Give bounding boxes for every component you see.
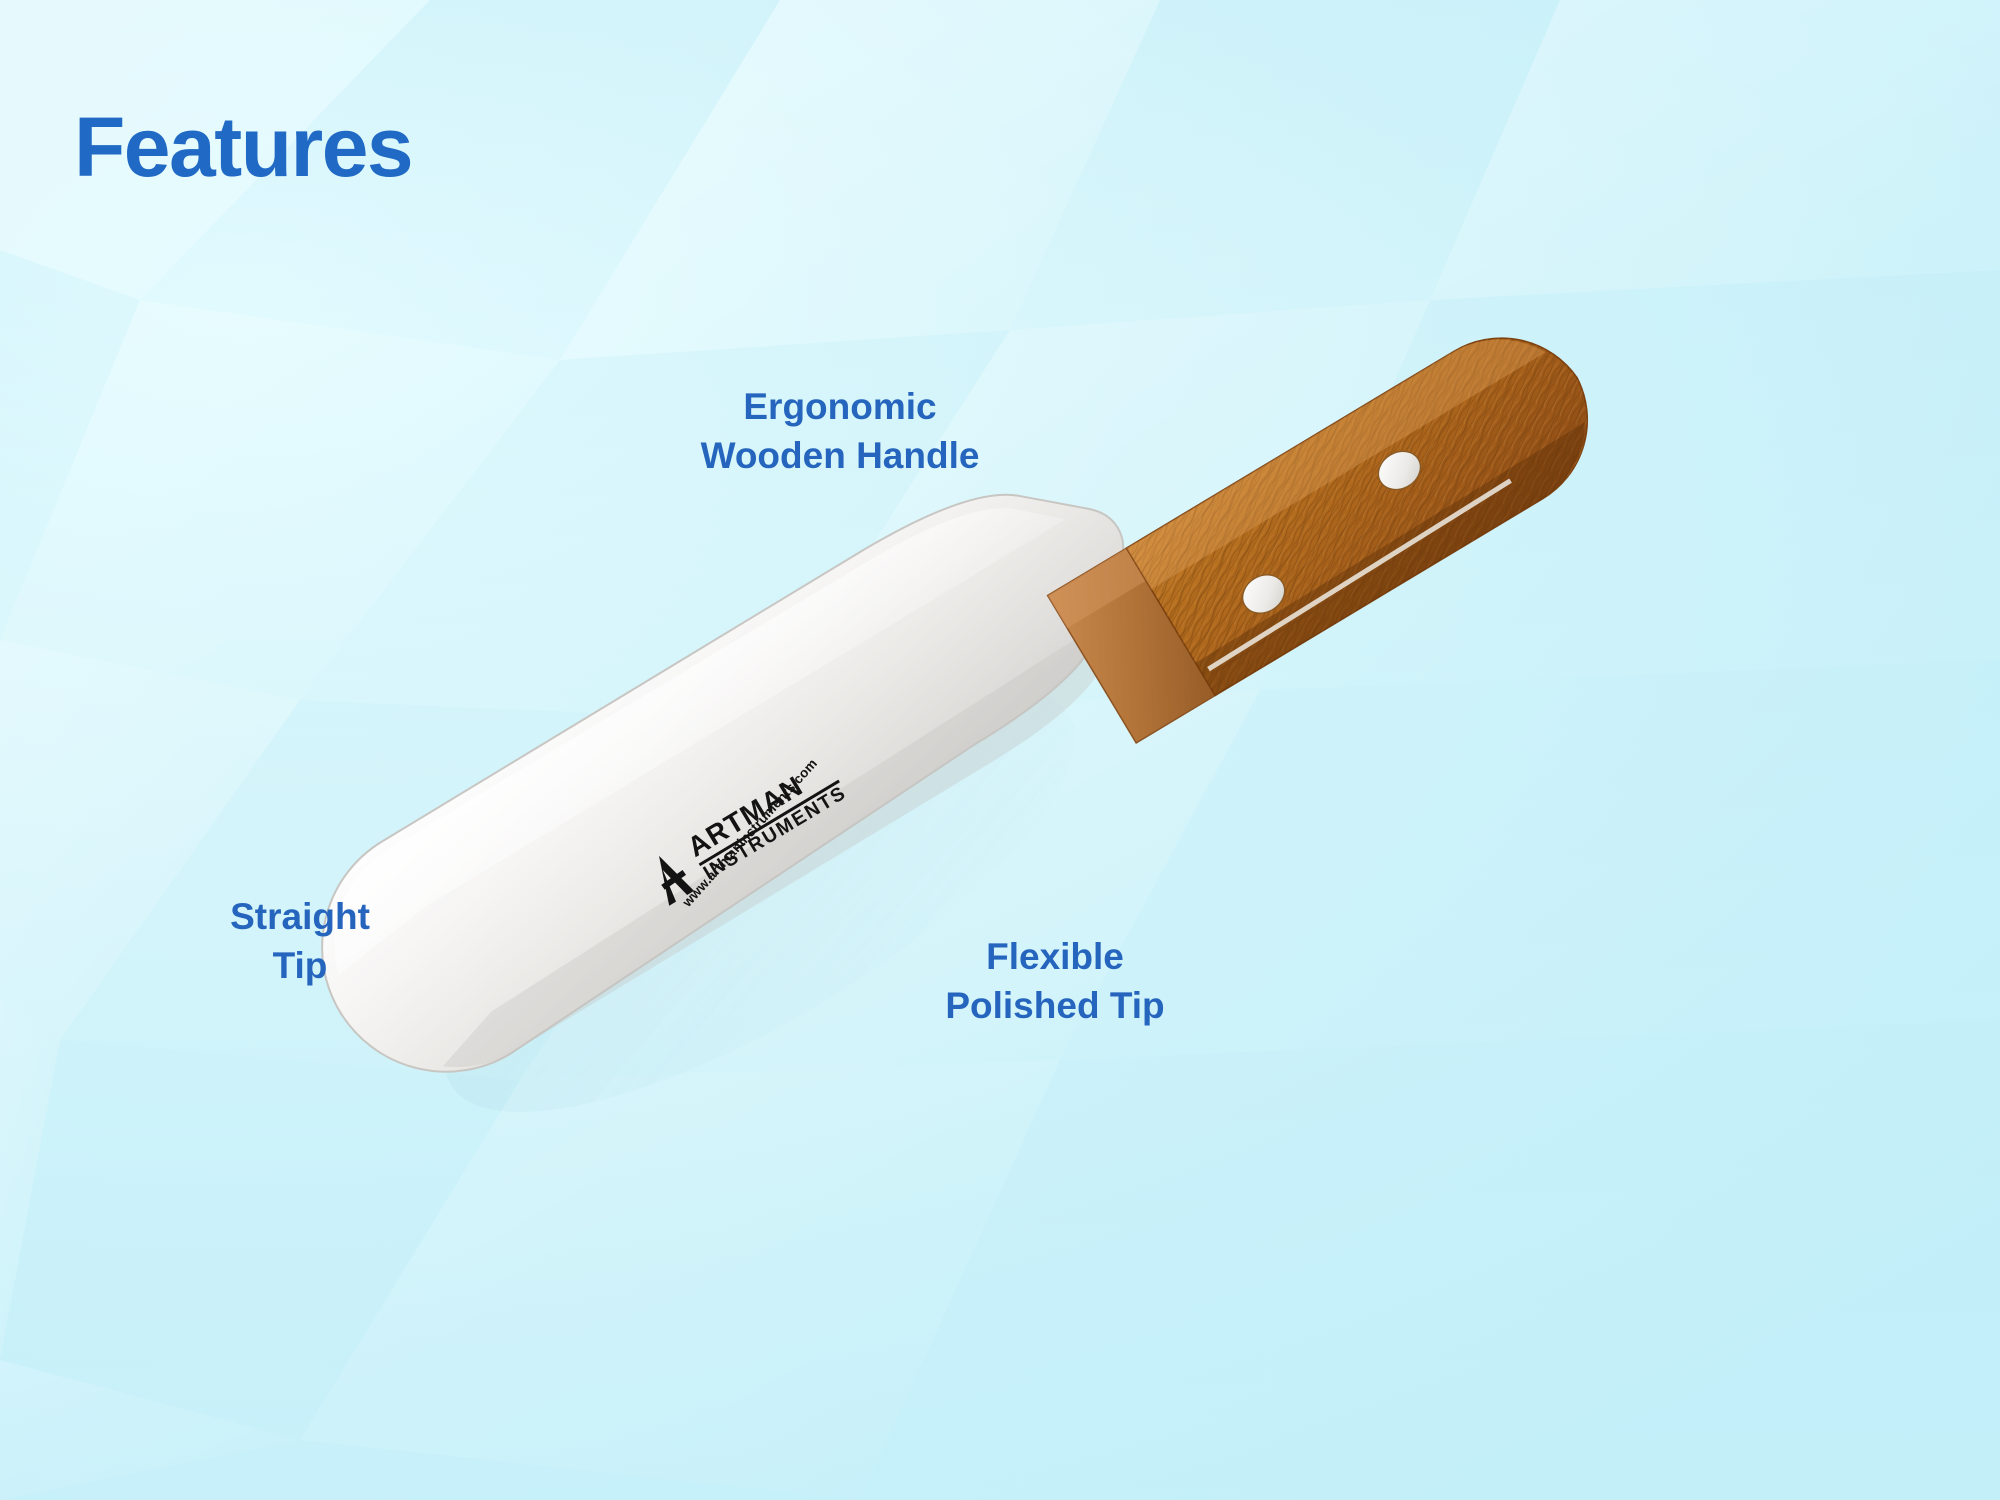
background-gradient (0, 0, 2000, 1500)
callout-straight-tip: Straight Tip (155, 892, 445, 990)
callout-ergonomic-wooden-handle: Ergonomic Wooden Handle (620, 382, 1060, 480)
slide-canvas: Features (0, 0, 2000, 1500)
page-title: Features (74, 105, 412, 189)
callout-flexible-polished-tip: Flexible Polished Tip (840, 932, 1270, 1030)
